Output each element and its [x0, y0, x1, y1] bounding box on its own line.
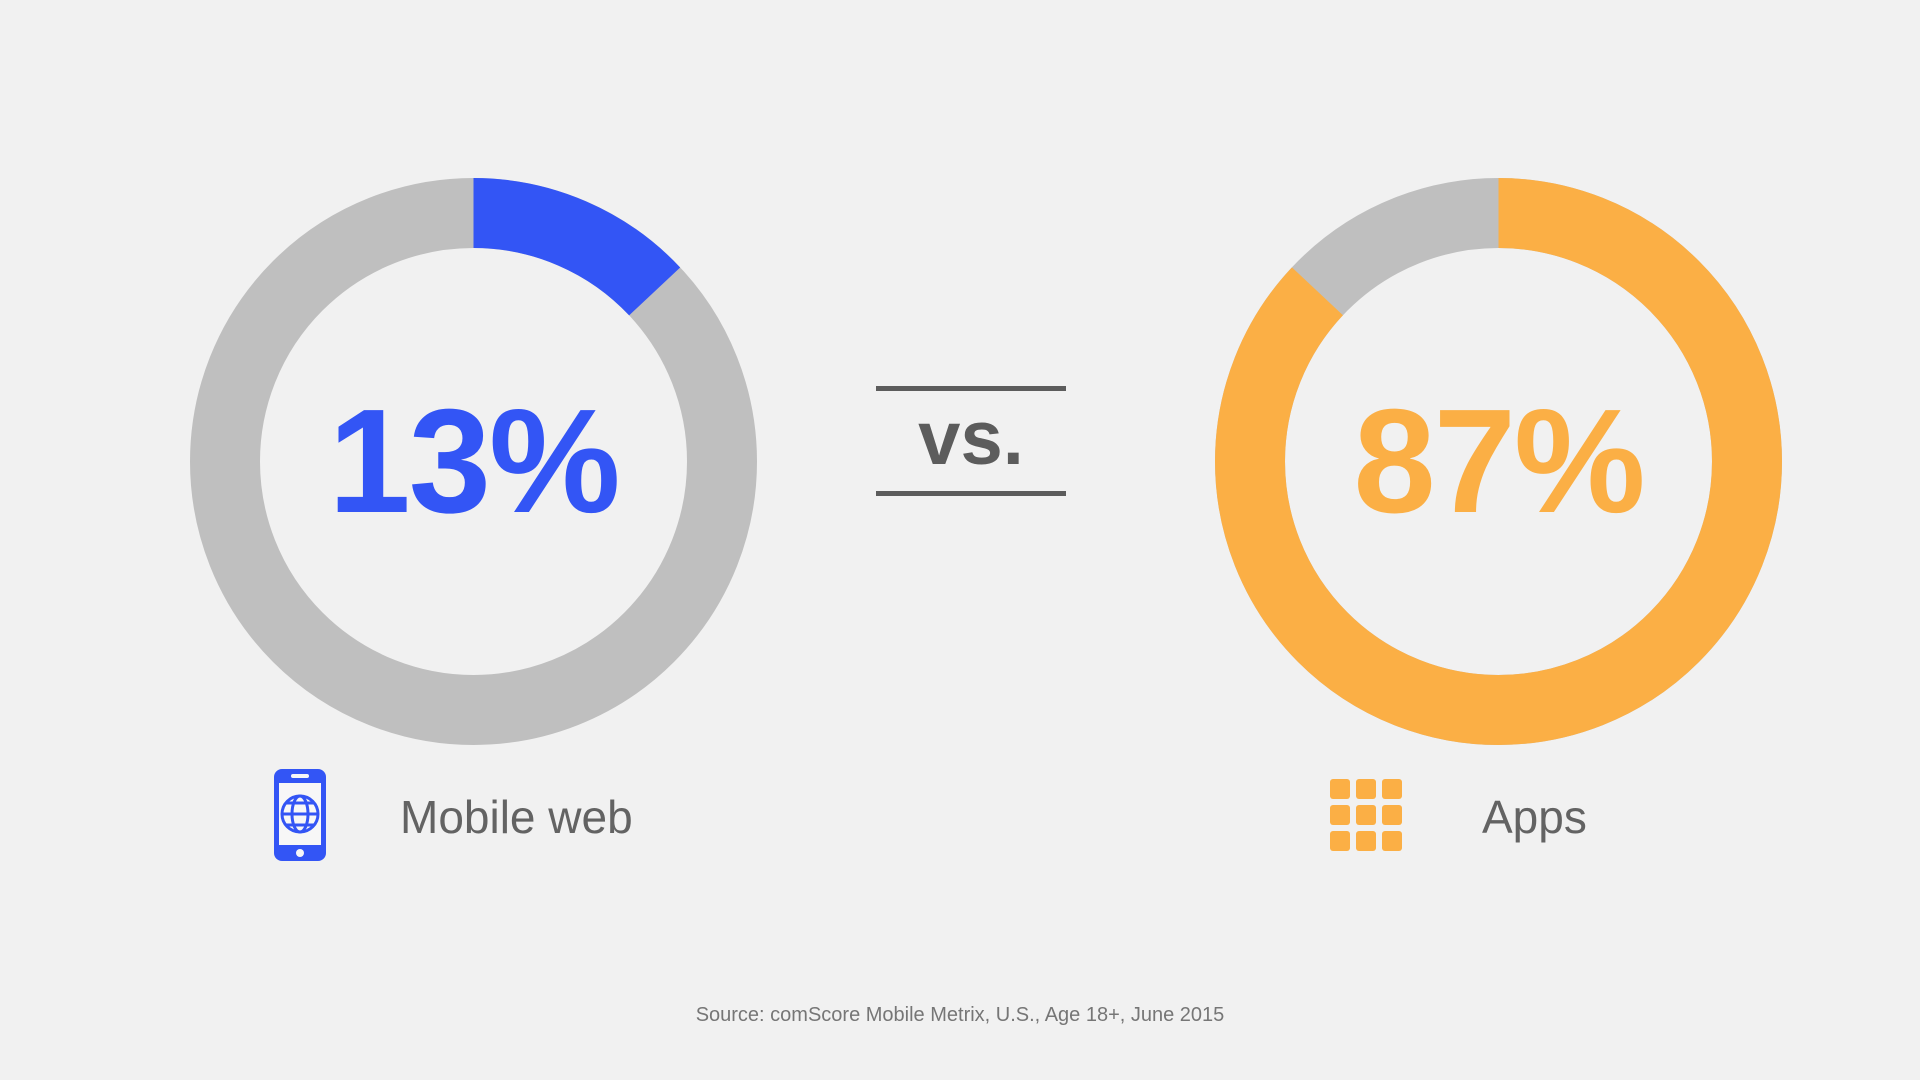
- legend-apps: Apps: [1330, 762, 1587, 872]
- donut-value-mobile-web: 13%: [190, 178, 757, 745]
- donut-chart-apps: 87%: [1215, 178, 1782, 745]
- vs-divider: vs.: [876, 386, 1066, 496]
- vs-label: vs.: [876, 391, 1066, 491]
- legend-label-apps: Apps: [1482, 794, 1587, 840]
- legend-label-mobile-web: Mobile web: [400, 794, 633, 840]
- legend-mobile-web: Mobile web: [272, 762, 633, 872]
- donut-value-apps: 87%: [1215, 178, 1782, 745]
- apps-grid-icon: [1330, 779, 1402, 856]
- infographic-canvas: 13% vs. 87%: [0, 0, 1920, 1080]
- source-note: Source: comScore Mobile Metrix, U.S., Ag…: [0, 1005, 1920, 1025]
- donut-chart-mobile-web: 13%: [190, 178, 757, 745]
- vs-rule-bottom: [876, 491, 1066, 496]
- mobile-phone-globe-icon: [272, 767, 328, 868]
